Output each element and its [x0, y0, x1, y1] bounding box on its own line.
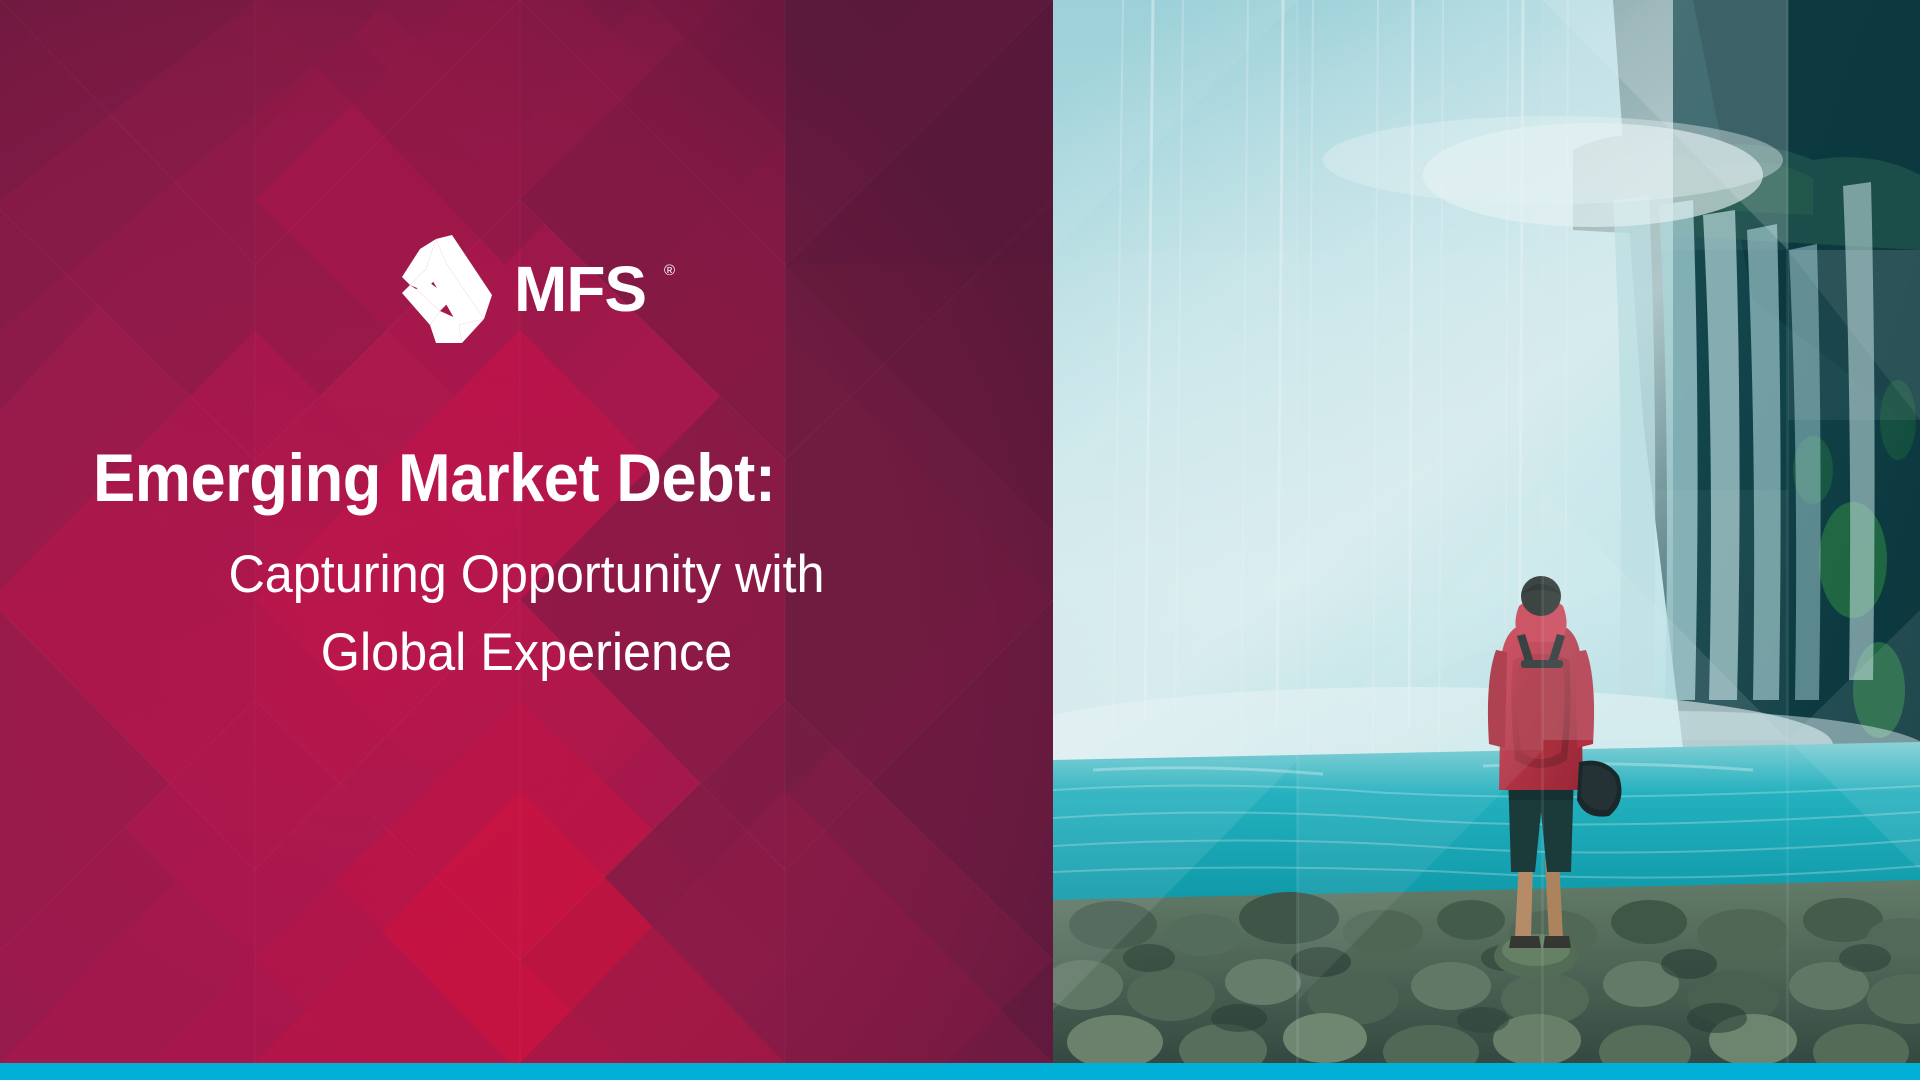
cyan-accent-bar — [0, 1063, 1920, 1080]
slide-title: Emerging Market Debt: — [0, 436, 979, 520]
slide-subtitle-line-2: Global Experience — [26, 614, 1026, 692]
registered-trademark-symbol: ® — [664, 262, 675, 279]
presentation-title-slide: MFS ® Emerging Market Debt: Capturing Op… — [0, 0, 1920, 1080]
mfs-origami-triangle-logo-icon — [396, 233, 506, 343]
slide-subtitle-line-1: Capturing Opportunity with — [26, 536, 1026, 614]
waterfall-hiker-photograph — [1053, 0, 1920, 1063]
waterfall-photo-panel — [1053, 0, 1920, 1063]
title-text-block: Emerging Market Debt: Capturing Opportun… — [0, 436, 1053, 692]
mfs-logo-lockup: MFS ® — [396, 233, 676, 343]
mfs-wordmark-text: MFS — [514, 253, 646, 325]
mfs-wordmark: MFS ® — [514, 251, 684, 327]
